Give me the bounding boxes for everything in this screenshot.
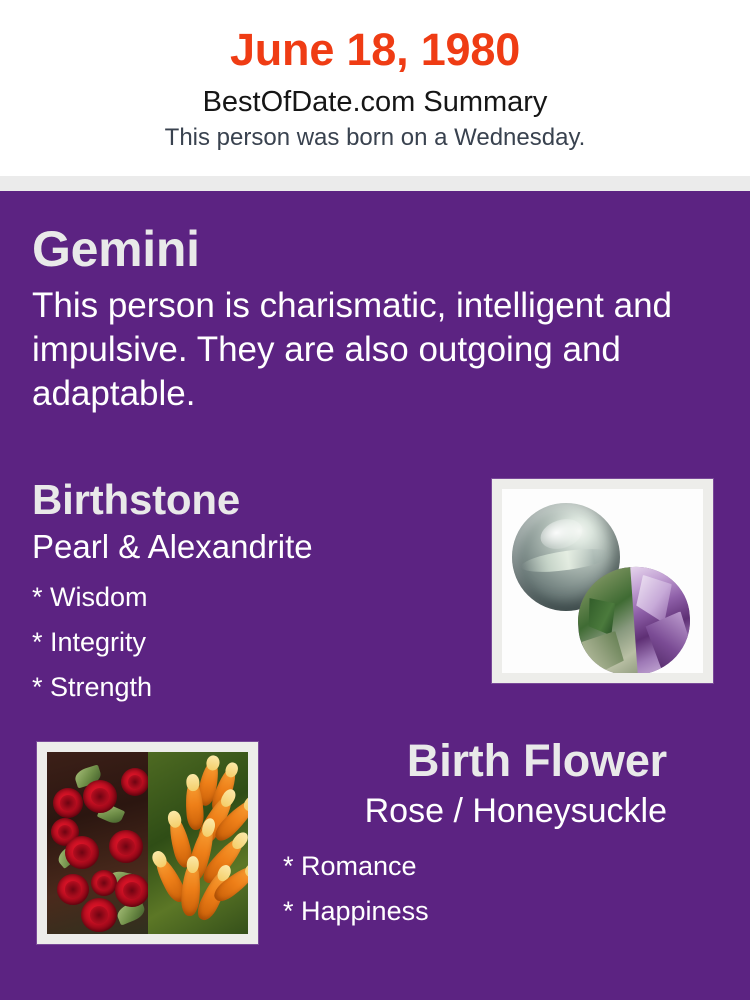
birth-flower-names: Rose / Honeysuckle — [283, 788, 667, 833]
birth-flower-title: Birth Flower — [283, 734, 667, 788]
born-day-text: This person was born on a Wednesday. — [0, 120, 750, 153]
birth-flower-photo-frame — [37, 742, 258, 944]
zodiac-sign-title: Gemini — [32, 220, 712, 278]
rose-icon — [57, 874, 89, 905]
list-item: * Happiness — [283, 889, 667, 934]
site-summary-label: BestOfDate.com Summary — [0, 78, 750, 120]
birthstone-section: Birthstone Pearl & Alexandrite * Wisdom … — [32, 475, 472, 710]
birthstone-title: Birthstone — [32, 475, 472, 525]
summary-card: June 18, 1980 BestOfDate.com Summary Thi… — [0, 0, 750, 1000]
header-divider — [0, 176, 750, 191]
list-item: * Strength — [32, 665, 472, 710]
alexandrite-faceted-half — [630, 563, 693, 673]
rose-icon — [115, 874, 148, 907]
rose-icon — [53, 788, 83, 818]
honeysuckle-photo-half — [148, 752, 249, 934]
roses-photo-half — [47, 752, 148, 934]
zodiac-description: This person is charismatic, intelligent … — [32, 278, 692, 416]
rose-icon — [109, 830, 143, 863]
birth-flower-traits-list: * Romance * Happiness — [283, 833, 667, 934]
zodiac-section: Gemini This person is charismatic, intel… — [32, 220, 712, 416]
page-title-date: June 18, 1980 — [0, 0, 750, 78]
rose-icon — [65, 836, 99, 869]
birthstone-names: Pearl & Alexandrite — [32, 525, 472, 568]
birth-flower-photo — [47, 752, 248, 934]
rose-icon — [81, 898, 117, 932]
birthstone-photo — [502, 489, 703, 673]
list-item: * Integrity — [32, 620, 472, 665]
list-item: * Romance — [283, 844, 667, 889]
birthstone-photo-frame — [492, 479, 713, 683]
header: June 18, 1980 BestOfDate.com Summary Thi… — [0, 0, 750, 176]
rose-icon — [83, 780, 117, 813]
rose-icon — [121, 768, 148, 796]
birth-flower-section: Birth Flower Rose / Honeysuckle * Romanc… — [283, 734, 667, 934]
rose-icon — [91, 870, 117, 896]
alexandrite-gem-icon — [574, 563, 693, 673]
list-item: * Wisdom — [32, 575, 472, 620]
birthstone-traits-list: * Wisdom * Integrity * Strength — [32, 568, 472, 710]
alexandrite-rough-half — [574, 567, 640, 673]
